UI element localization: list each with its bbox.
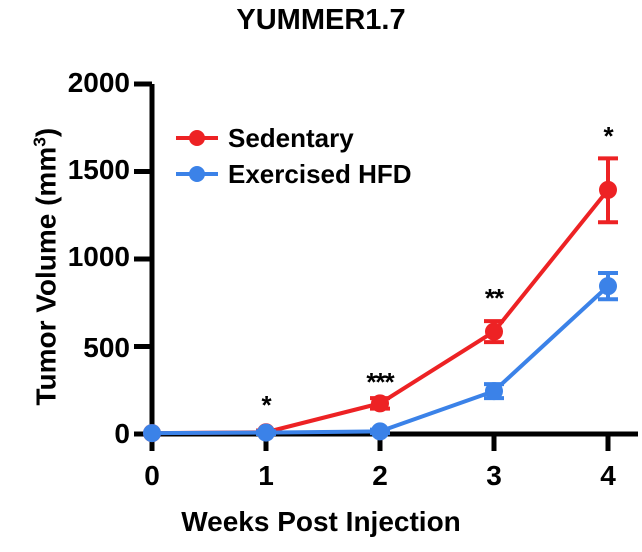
chart-figure: YUMMER1.7 Tumor Volume (mm3) Weeks Post … bbox=[0, 0, 642, 552]
data-point-exercised-hfd-week4 bbox=[599, 277, 617, 295]
data-point-exercised-hfd-week2 bbox=[371, 422, 389, 440]
data-point-sedentary-week3 bbox=[485, 323, 503, 341]
data-point-exercised-hfd-week1 bbox=[257, 424, 275, 442]
series-layer bbox=[143, 158, 618, 442]
plot-area bbox=[0, 0, 642, 552]
data-point-exercised-hfd-week0 bbox=[143, 424, 161, 442]
y-axis-ticks bbox=[134, 84, 152, 434]
data-point-sedentary-week4 bbox=[599, 181, 617, 199]
data-point-sedentary-week2 bbox=[371, 394, 389, 412]
data-point-exercised-hfd-week3 bbox=[485, 382, 503, 400]
